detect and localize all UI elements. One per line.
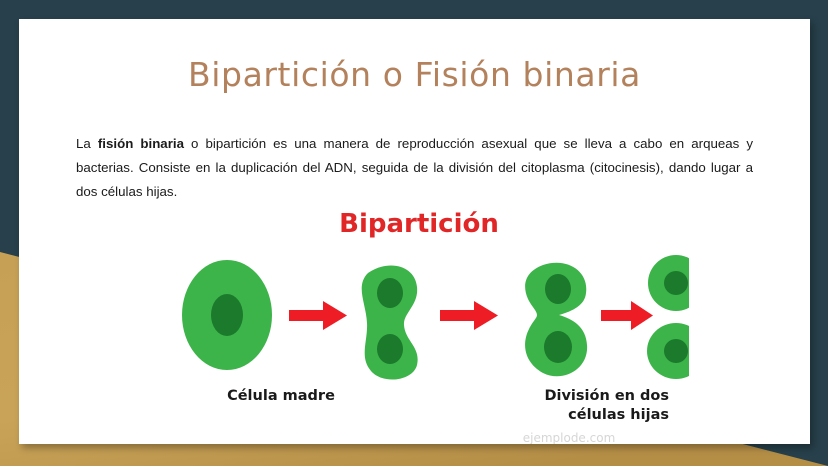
- figure-label-daughters-line1: División en dos: [544, 388, 669, 404]
- body-paragraph: La fisión binaria o bipartición es una m…: [76, 132, 753, 204]
- diagram-stage-2-dna-duplicated: [362, 265, 418, 379]
- diagram-arrow-3-icon: [601, 301, 653, 330]
- figure-title: Bipartición: [149, 209, 689, 239]
- figure-label-mother-cell: Célula madre: [201, 387, 361, 406]
- binary-fission-diagram: [149, 253, 689, 388]
- figure-label-daughter-cells: División en doscélulas hijas: [469, 387, 669, 425]
- figure-watermark: ejemplode.com: [469, 431, 669, 444]
- slide-content-card: Bipartición o Fisión binaria La fisión b…: [19, 19, 810, 444]
- diagram-stage-3-cytokinesis: [525, 263, 587, 377]
- diagram-arrow-2-icon: [440, 301, 498, 330]
- body-text-lead: La: [76, 136, 98, 151]
- figure-label-daughters-line2: células hijas: [568, 407, 669, 423]
- diagram-stage-1-mother-cell: [182, 260, 272, 370]
- diagram-arrow-1-icon: [289, 301, 347, 330]
- page-title: Bipartición o Fisión binaria: [19, 55, 810, 94]
- diagram-stage-4-daughter-cells: [647, 255, 689, 379]
- presentation-slide: Bipartición o Fisión binaria La fisión b…: [0, 0, 828, 466]
- binary-fission-figure: Bipartición: [149, 209, 689, 444]
- body-bold-term: fisión binaria: [98, 136, 184, 151]
